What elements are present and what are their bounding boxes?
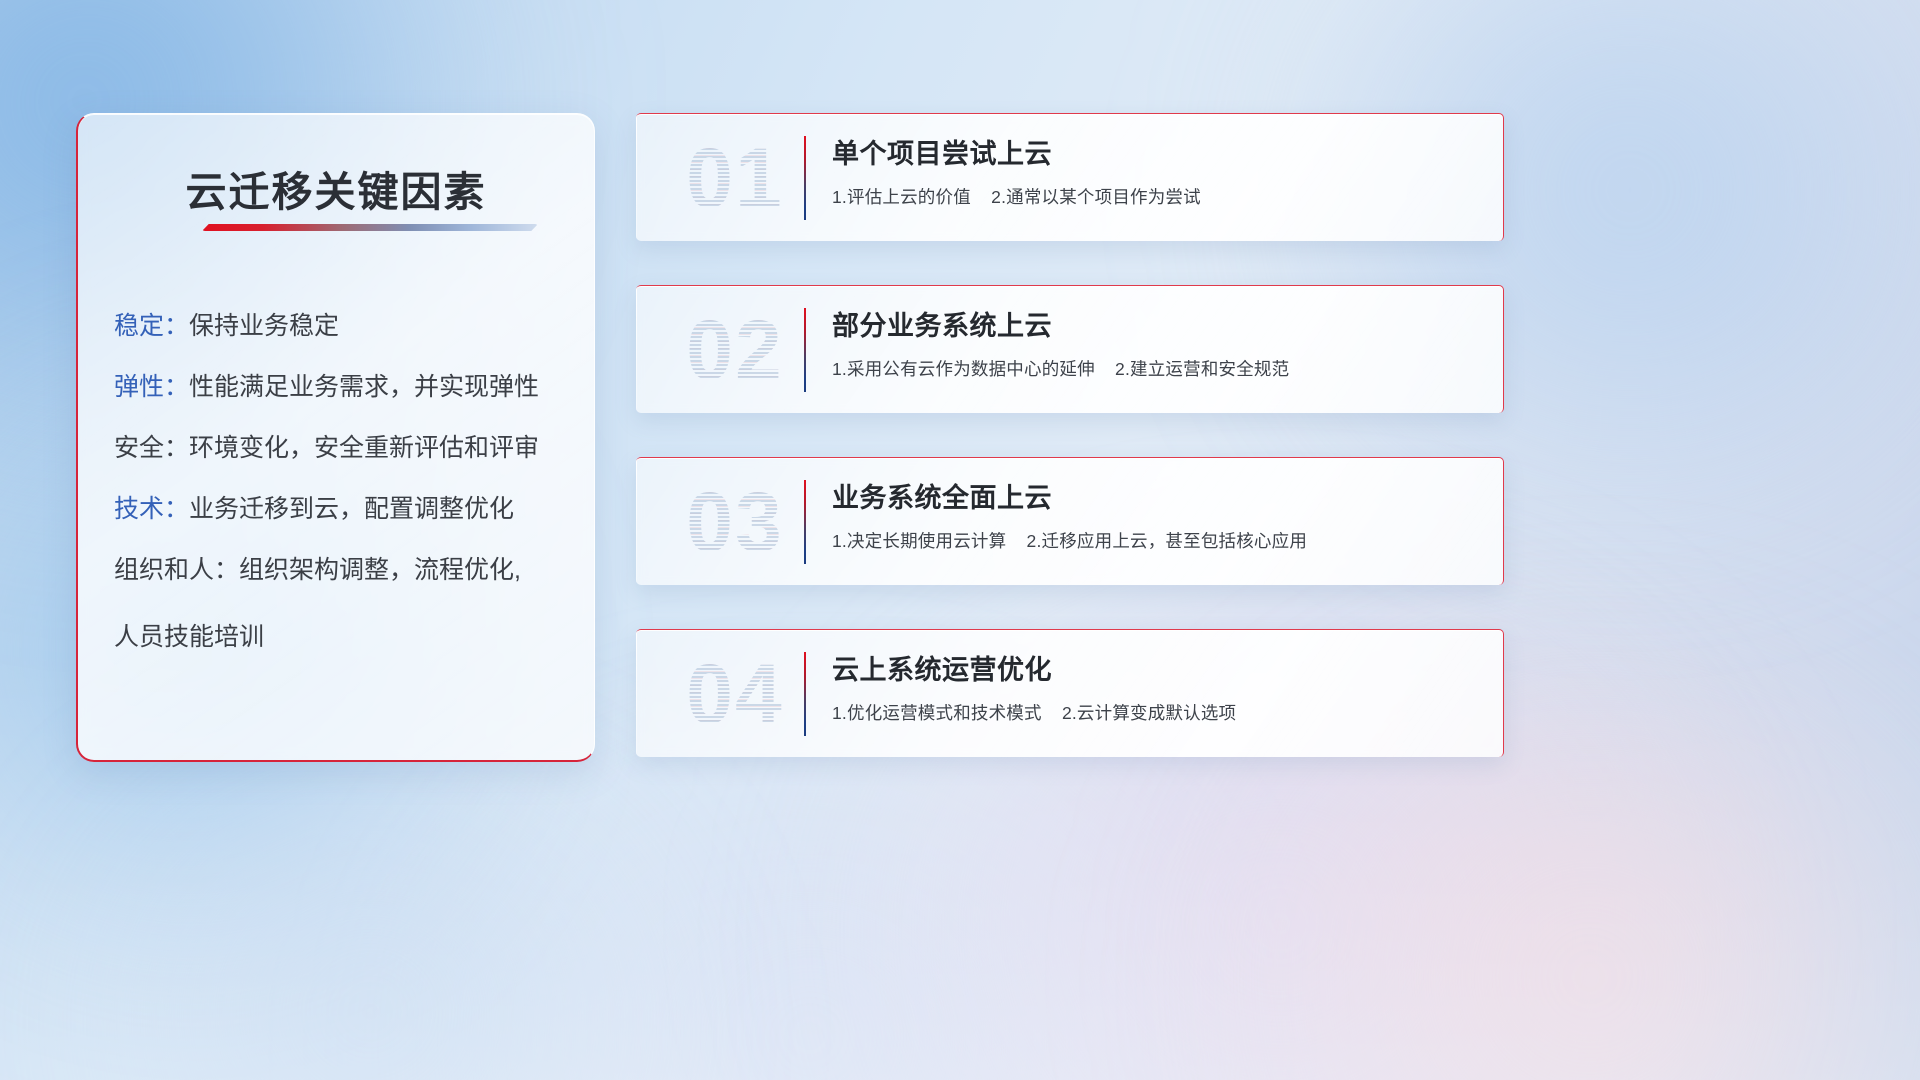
list-item: 弹性：性能满足业务需求，并实现弹性 [114, 375, 570, 400]
step-title: 云上系统运营优化 [832, 648, 1475, 687]
step-number: 04 [660, 644, 810, 744]
step-subtitle: 1.优化运营模式和技术模式 2.云计算变成默认选项 [832, 700, 1475, 725]
factor-label: 安全： [114, 434, 189, 462]
step-divider-rule [804, 652, 806, 736]
migration-steps-list: 01 01 单个项目尝试上云 1.评估上云的价值 2.通常以某个项目作为尝试 0… [636, 113, 1504, 801]
list-item: 技术：业务迁移到云，配置调整优化 [114, 497, 570, 522]
factor-text: 组织架构调整，流程优化, [239, 556, 521, 584]
page-title: 云迁移关键因素 [78, 158, 594, 218]
factor-list: 稳定：保持业务稳定 弹性：性能满足业务需求，并实现弹性 安全：环境变化，安全重新… [114, 314, 570, 653]
title-underline-rule [202, 224, 538, 231]
step-subtitle: 1.评估上云的价值 2.通常以某个项目作为尝试 [832, 184, 1475, 209]
factor-text: 性能满足业务需求，并实现弹性 [189, 373, 539, 401]
step-subtitle: 1.决定长期使用云计算 2.迁移应用上云，甚至包括核心应用 [832, 528, 1475, 553]
list-item: 安全：环境变化，安全重新评估和评审 [114, 436, 570, 461]
step-number: 03 [660, 472, 810, 572]
step-divider-rule [804, 480, 806, 564]
step-card-01[interactable]: 01 01 单个项目尝试上云 1.评估上云的价值 2.通常以某个项目作为尝试 [636, 113, 1504, 241]
step-divider-rule [804, 308, 806, 392]
factor-label: 弹性： [114, 373, 189, 401]
factor-text: 保持业务稳定 [189, 312, 339, 340]
step-number: 02 [660, 300, 810, 400]
factor-label: 组织和人： [114, 556, 239, 584]
step-title: 部分业务系统上云 [832, 304, 1475, 343]
list-item: 稳定：保持业务稳定 [114, 314, 570, 339]
step-number: 01 [660, 128, 810, 228]
factor-label: 技术： [114, 495, 189, 523]
step-title: 业务系统全面上云 [832, 476, 1475, 515]
factor-text: 环境变化，安全重新评估和评审 [189, 434, 539, 462]
step-subtitle: 1.采用公有云作为数据中心的延伸 2.建立运营和安全规范 [832, 356, 1475, 381]
key-factors-panel: 云迁移关键因素 稳定：保持业务稳定 弹性：性能满足业务需求，并实现弹性 安全：环… [76, 113, 595, 762]
step-card-02[interactable]: 02 02 部分业务系统上云 1.采用公有云作为数据中心的延伸 2.建立运营和安… [636, 285, 1504, 413]
factor-label: 稳定： [114, 312, 189, 340]
step-divider-rule [804, 136, 806, 220]
factor-text-continuation: 人员技能培训 [114, 617, 570, 653]
step-card-03[interactable]: 03 03 业务系统全面上云 1.决定长期使用云计算 2.迁移应用上云，甚至包括… [636, 457, 1504, 585]
list-item: 组织和人：组织架构调整，流程优化, [114, 558, 570, 583]
step-title: 单个项目尝试上云 [832, 132, 1475, 171]
step-card-04[interactable]: 04 04 云上系统运营优化 1.优化运营模式和技术模式 2.云计算变成默认选项 [636, 629, 1504, 757]
factor-text: 业务迁移到云，配置调整优化 [189, 495, 514, 523]
